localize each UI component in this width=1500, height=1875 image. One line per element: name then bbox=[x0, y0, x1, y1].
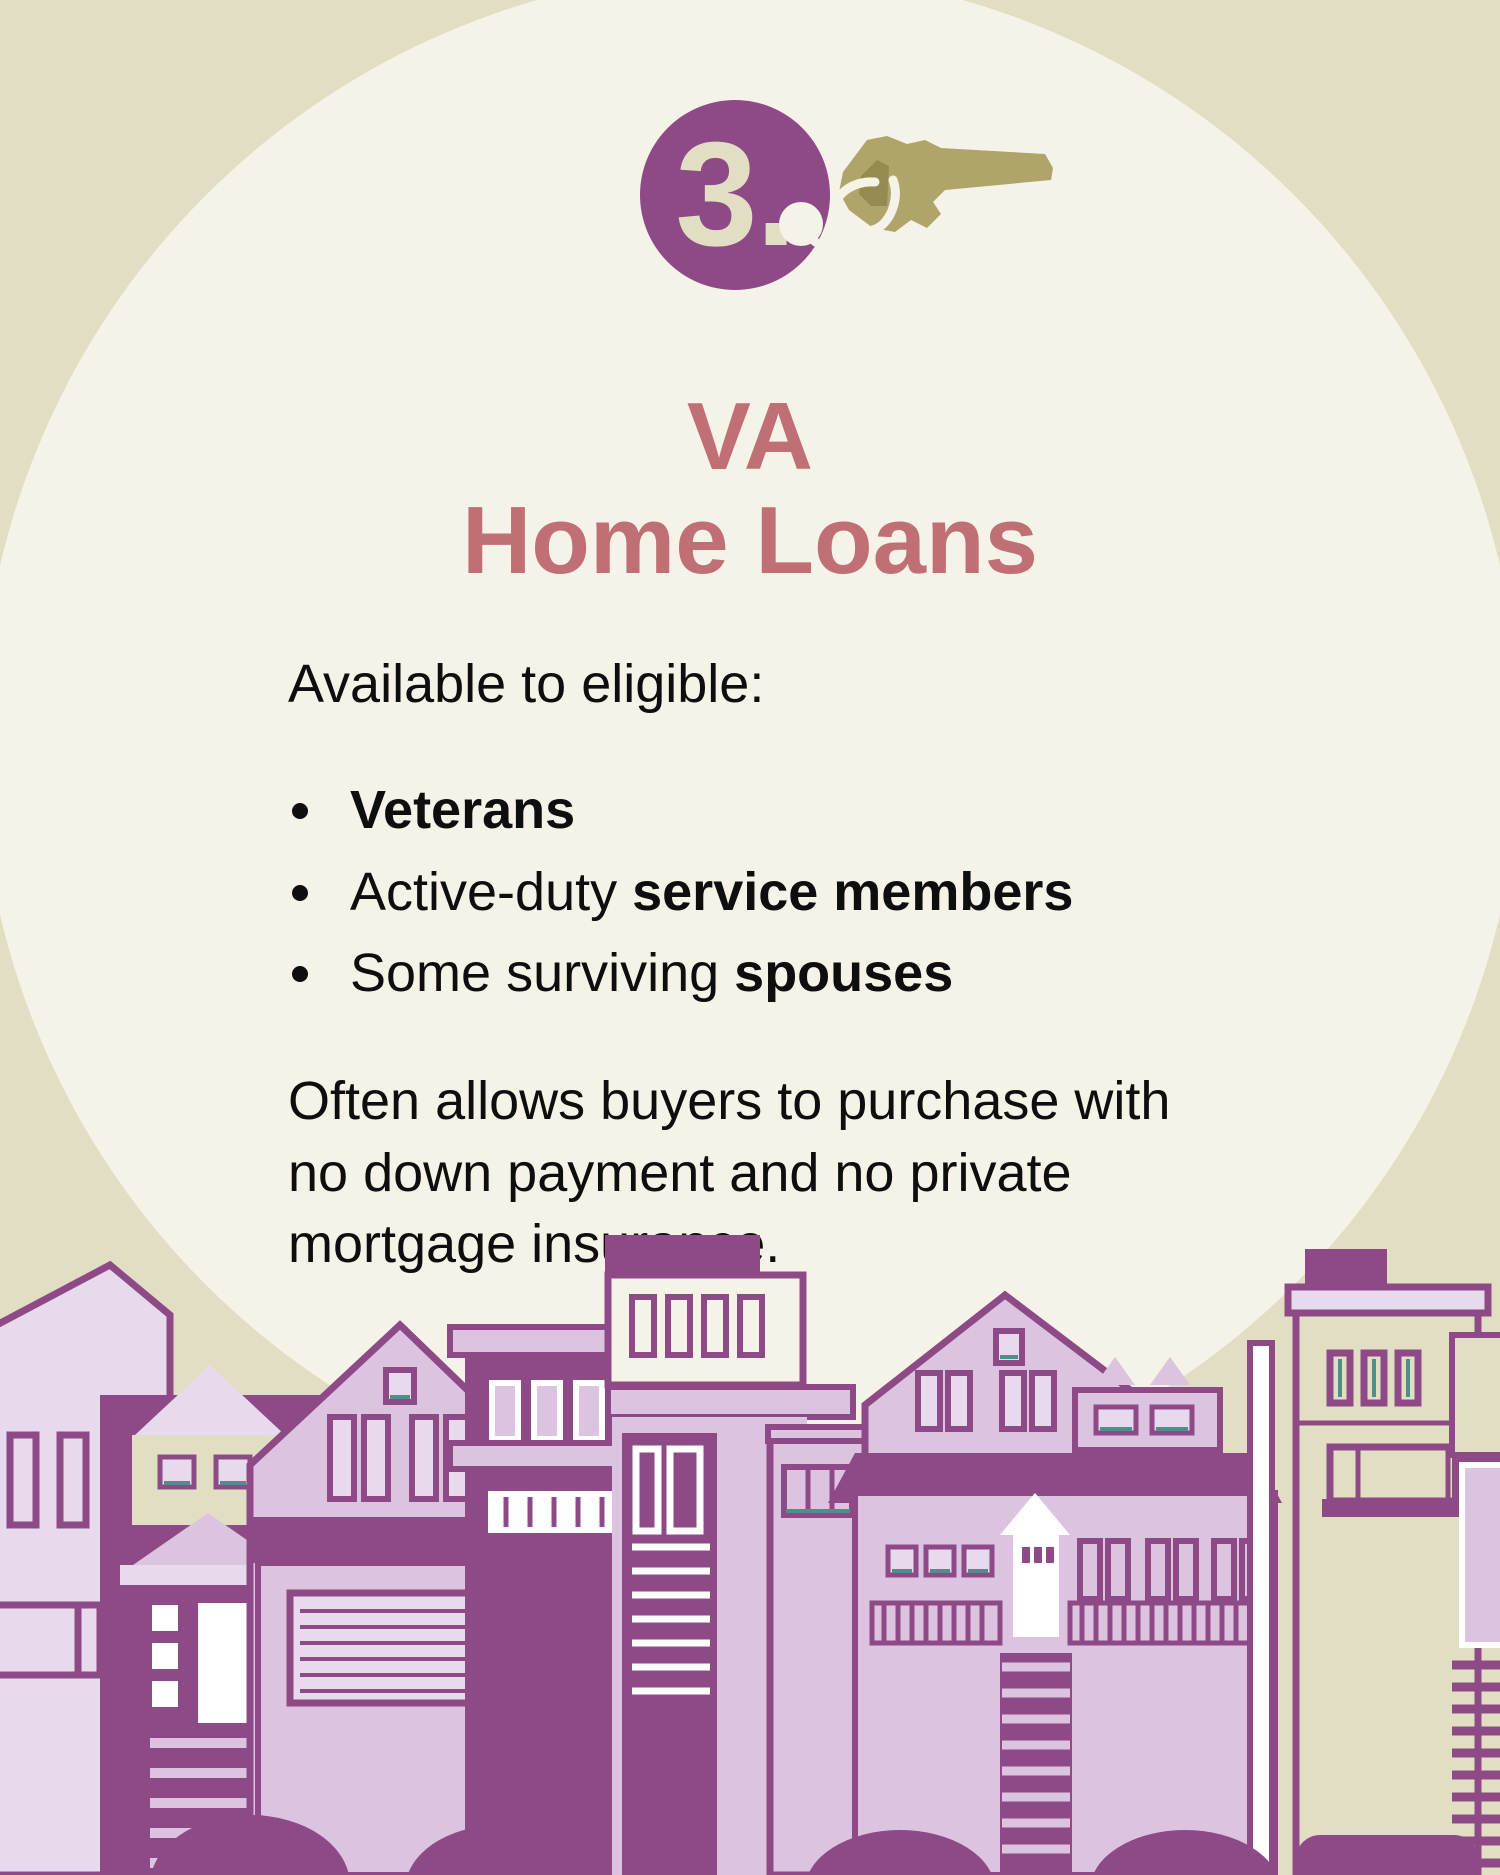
neighborhood-illustration bbox=[0, 1235, 1500, 1875]
house-center-tower bbox=[605, 1235, 868, 1875]
house-far-right bbox=[1288, 1249, 1500, 1875]
list-item: Some surviving spouses bbox=[288, 939, 1268, 1008]
poster-canvas: 3. VA Home Loans A bbox=[0, 0, 1500, 1875]
lead-text: Available to eligible: bbox=[288, 655, 1268, 714]
title-line-1: VA bbox=[0, 385, 1500, 489]
bullet-bold: Veterans bbox=[350, 780, 575, 840]
bullet-dot-icon bbox=[292, 885, 308, 901]
bullet-bold: service members bbox=[632, 862, 1073, 922]
house-right-porch bbox=[828, 1295, 1282, 1875]
list-item: Veterans bbox=[288, 776, 1268, 845]
bullet-plain-before: Some surviving bbox=[350, 943, 734, 1003]
list-item: Active-duty service members bbox=[288, 858, 1268, 927]
bullet-dot-icon bbox=[292, 803, 308, 819]
bullet-bold: spouses bbox=[734, 943, 953, 1003]
title-line-2: Home Loans bbox=[0, 489, 1500, 593]
page-title: VA Home Loans bbox=[0, 385, 1500, 592]
bullet-dot-icon bbox=[292, 966, 308, 982]
house-mid-purple-block bbox=[450, 1327, 625, 1875]
eligibility-list: Veterans Active-duty service members Som… bbox=[288, 776, 1268, 1007]
bullet-plain-before: Active-duty bbox=[350, 862, 632, 922]
body-content: Available to eligible: Veterans Active-d… bbox=[288, 655, 1268, 1281]
key-ring-bead-icon bbox=[765, 188, 855, 278]
step-badge-row: 3. bbox=[0, 100, 1500, 290]
